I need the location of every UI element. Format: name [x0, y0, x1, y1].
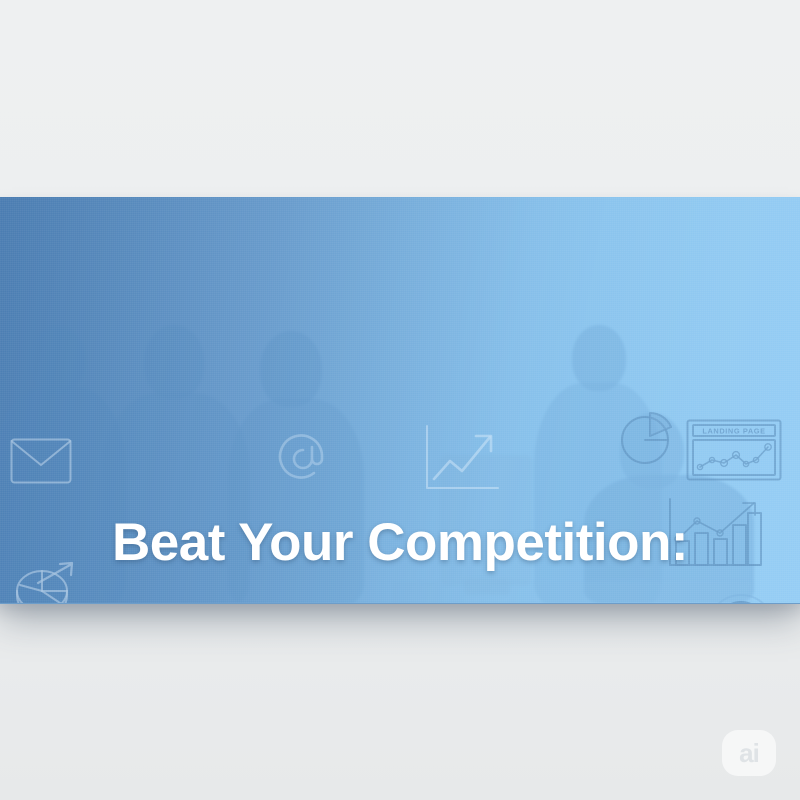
envelope-icon: [10, 438, 72, 484]
marketing-banner[interactable]: LANDING PAGE: [0, 197, 800, 603]
headline-line-2: Growth Strategies: [0, 585, 800, 604]
at-symbol-icon: [274, 429, 332, 487]
landing-page-title: LANDING PAGE: [702, 427, 765, 436]
page-title: Beat Your Competition: Growth Strategies: [0, 501, 800, 604]
pie-chart-icon: [618, 409, 676, 467]
landing-page-icon[interactable]: LANDING PAGE: [686, 419, 782, 481]
ai-watermark-logo: ai: [722, 730, 776, 776]
growth-arrow-chart-icon: [424, 425, 500, 491]
page-canvas: LANDING PAGE: [0, 0, 800, 800]
headline-line-1: Beat Your Competition:: [0, 501, 800, 585]
